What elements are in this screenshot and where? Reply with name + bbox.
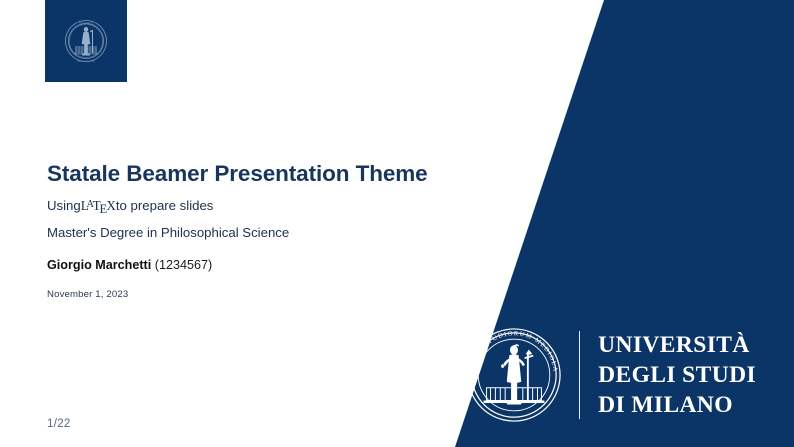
presentation-slide: UNIVERSITAS MEDIOLANENSIS Statale Beamer… <box>0 0 794 447</box>
latex-x: X <box>106 198 116 213</box>
slide-subtitle-line2: Master's Degree in Philosophical Science <box>47 224 467 242</box>
university-name-line2: DEGLI STUDI <box>598 360 756 390</box>
university-name-line3: DI MILANO <box>598 390 756 420</box>
author-line: Giorgio Marchetti (1234567) <box>47 258 467 272</box>
subtitle-prefix: Using <box>47 197 81 215</box>
slide-title: Statale Beamer Presentation Theme <box>47 160 467 187</box>
subtitle-suffix: to prepare slides <box>116 197 214 215</box>
university-logo-lockup: UNIVERSITAS STUDIORUM MEDIOLANENSIS <box>465 325 756 425</box>
corner-logo-block: UNIVERSITAS MEDIOLANENSIS <box>45 0 127 82</box>
latex-a: A <box>87 199 94 210</box>
title-block: Statale Beamer Presentation Theme Using … <box>47 160 467 300</box>
university-seal-icon: UNIVERSITAS MEDIOLANENSIS <box>61 16 111 66</box>
university-name-line1: UNIVERSITÀ <box>598 330 756 360</box>
page-number: 1/22 <box>47 418 71 430</box>
author-id: (1234567) <box>155 258 212 272</box>
latex-wordmark: LATEX <box>81 197 116 215</box>
svg-text:UNIVERSITAS: UNIVERSITAS <box>79 22 94 25</box>
university-seal-icon-large: UNIVERSITAS STUDIORUM MEDIOLANENSIS <box>465 326 563 424</box>
slide-subtitle-line1: Using LATEX to prepare slides <box>47 197 467 215</box>
logo-divider <box>579 331 580 419</box>
university-name: UNIVERSITÀ DEGLI STUDI DI MILANO <box>598 330 756 420</box>
slide-date: November 1, 2023 <box>47 289 467 300</box>
seal-minerva-figure <box>501 344 533 404</box>
author-name: Giorgio Marchetti <box>47 258 151 272</box>
latex-e: E <box>99 202 107 216</box>
